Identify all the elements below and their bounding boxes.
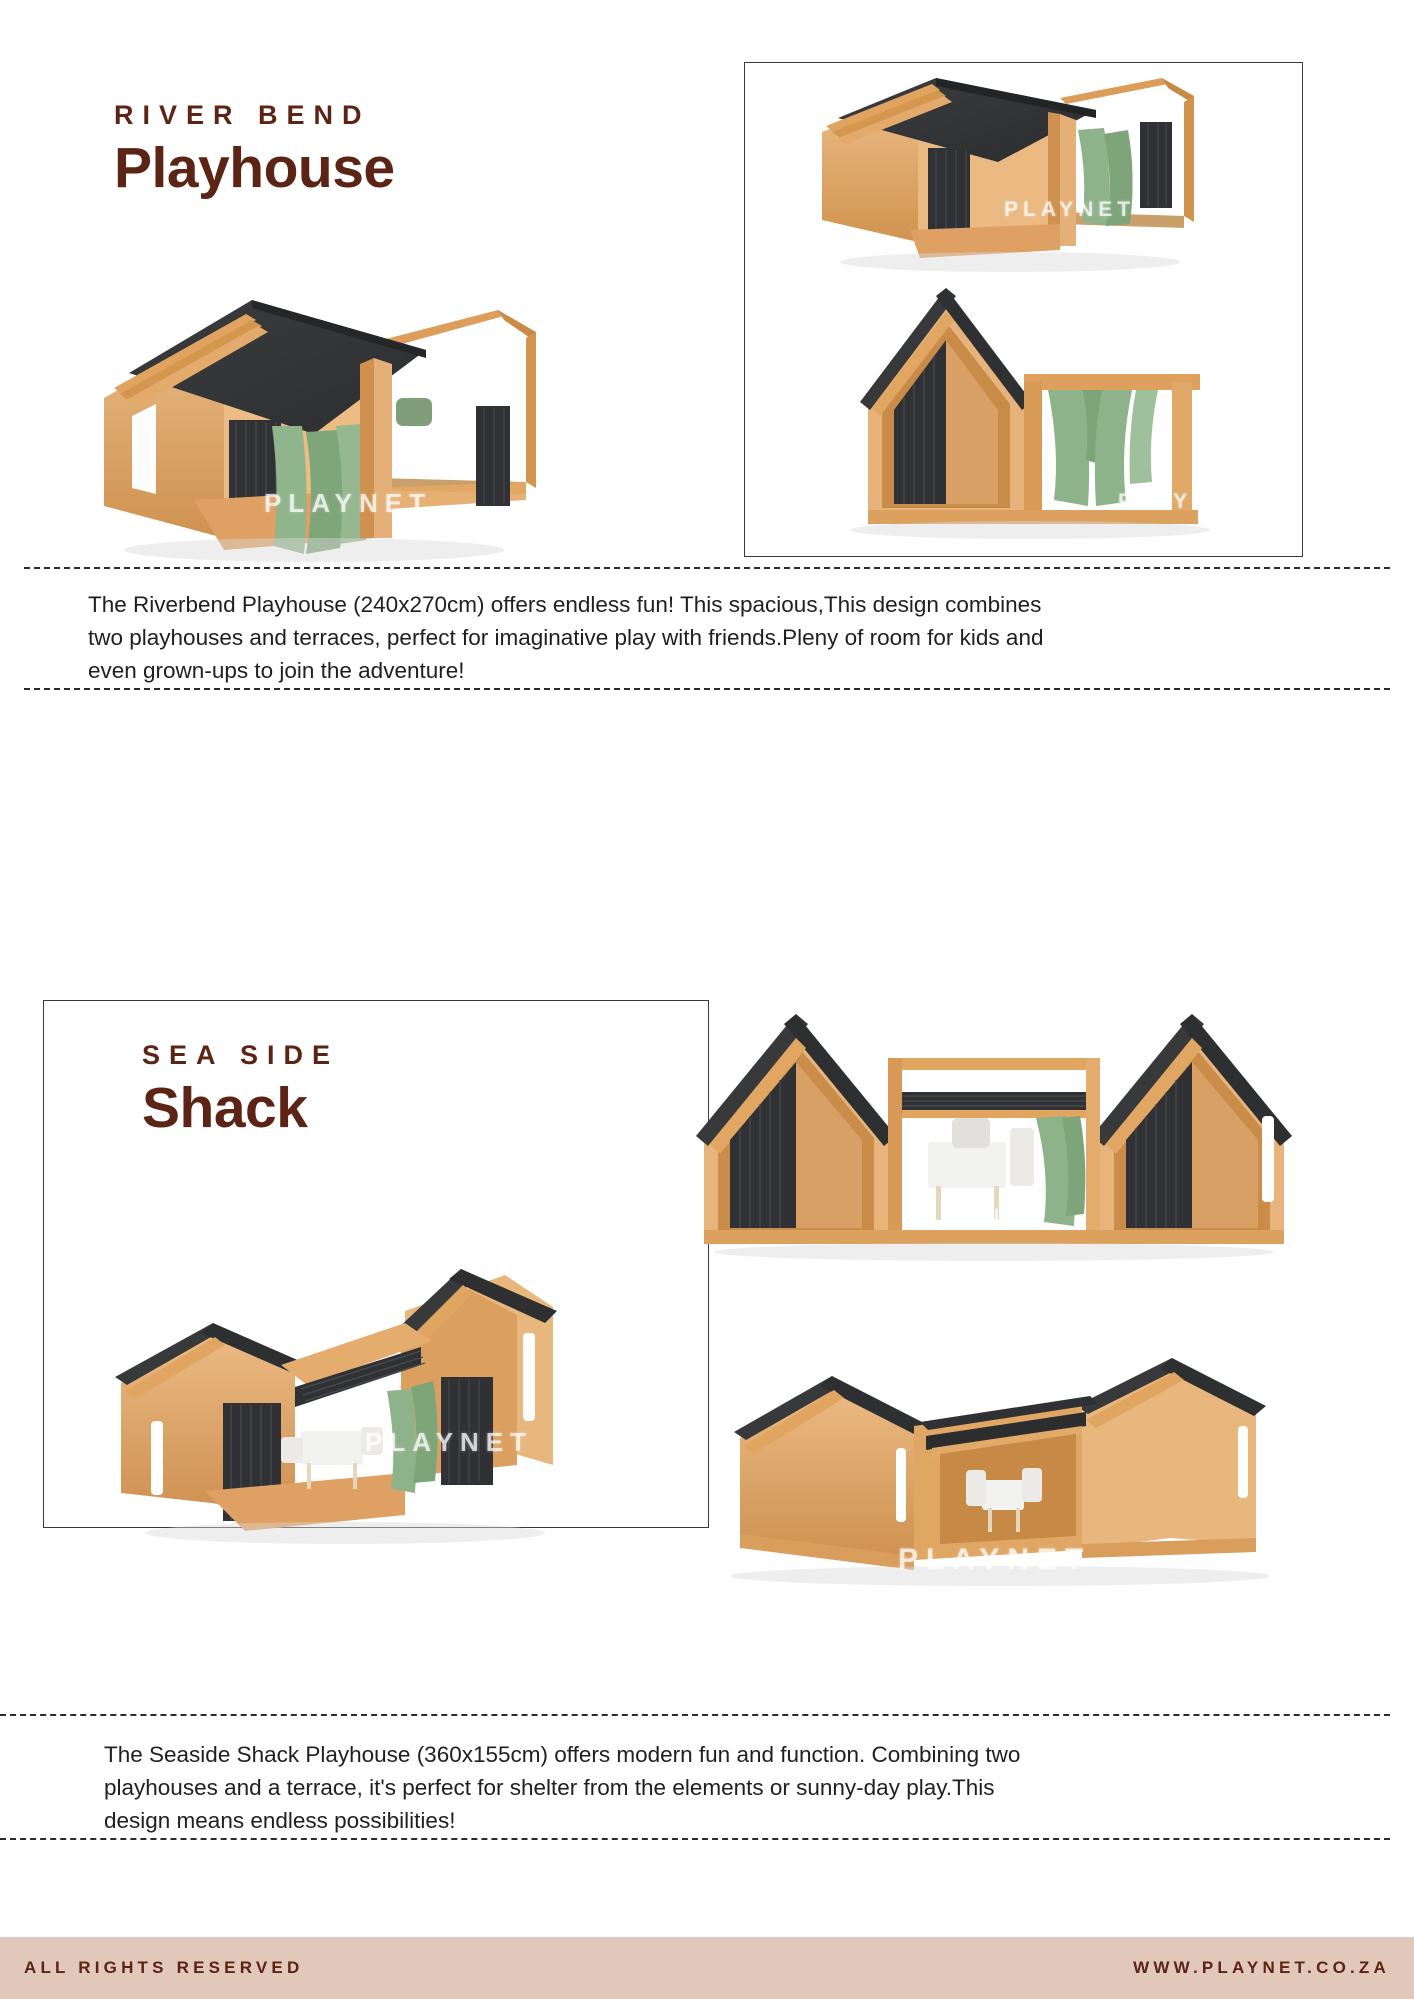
footer-website-url[interactable]: WWW.PLAYNET.CO.ZA (1133, 1958, 1390, 1978)
render-riverbend-front-elevation: PLAYNET (760, 278, 1288, 548)
divider-bottom (0, 1838, 1390, 1840)
render-seaside-front-elevation: PLAYNET (684, 1000, 1304, 1270)
section-one-description: The Riverbend Playhouse (240x270cm) offe… (88, 588, 1048, 687)
divider-section-two-top (0, 1714, 1390, 1716)
page-footer: ALL RIGHTS RESERVED WWW.PLAYNET.CO.ZA (0, 1937, 1414, 1999)
footer-rights-text: ALL RIGHTS RESERVED (24, 1958, 303, 1978)
brochure-page: RIVER BEND Playhouse (0, 0, 1414, 1999)
divider-top (24, 567, 1390, 569)
render-riverbend-isometric-view: PLAYNET (760, 70, 1288, 295)
divider-middle (24, 688, 1390, 690)
section-two-heading-block: SEA SIDE Shack (142, 1040, 339, 1139)
render-seaside-angled-view: PLAYNET (105, 1215, 585, 1545)
section-one-title: Playhouse (114, 139, 395, 199)
section-one-heading-block: RIVER BEND Playhouse (114, 100, 395, 199)
section-two-eyebrow: SEA SIDE (142, 1040, 339, 1071)
render-seaside-rear-perspective: PLAYNET (700, 1330, 1320, 1610)
section-two-title: Shack (142, 1079, 339, 1139)
section-one-eyebrow: RIVER BEND (114, 100, 395, 131)
section-two-description: The Seaside Shack Playhouse (360x155cm) … (104, 1738, 1044, 1837)
render-riverbend-angled-view: PLAYNET (74, 238, 544, 568)
